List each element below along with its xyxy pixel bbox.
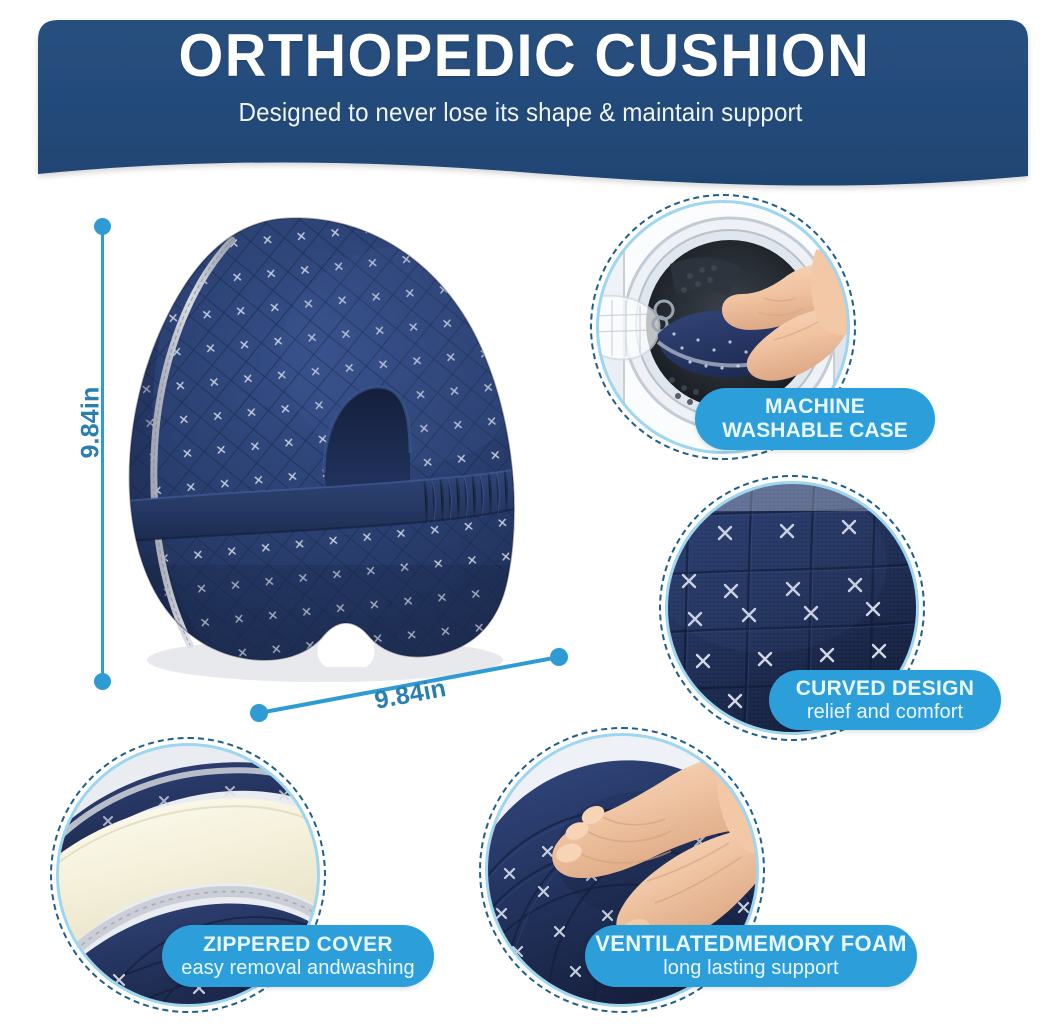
product-infographic: ORTHOPEDIC CUSHION Designed to never los…: [0, 0, 1041, 1024]
badge-subtitle: long lasting support: [663, 957, 838, 979]
dimension-endpoint-dot: [250, 704, 268, 722]
dimension-height-label: 9.84in: [77, 368, 106, 478]
badge-zippered-cover[interactable]: ZIPPERED COVER easy removal andwashing: [162, 925, 434, 987]
badge-title: MACHINE: [765, 395, 865, 419]
badge-ventilated-foam[interactable]: VENTILATEDMEMORY FOAM long lasting suppo…: [585, 925, 917, 987]
badge-subtitle: relief and comfort: [807, 701, 963, 723]
badge-subtitle: easy removal andwashing: [181, 957, 415, 979]
product-hero-image: [110, 205, 610, 705]
header-banner: ORTHOPEDIC CUSHION Designed to never los…: [0, 0, 1041, 200]
dimension-endpoint-dot: [550, 648, 568, 666]
dimension-height: 9.84in: [82, 218, 122, 688]
badge-title: ZIPPERED COVER: [203, 933, 393, 957]
dimension-endpoint-dot: [94, 673, 111, 690]
badge-machine-washable[interactable]: MACHINE WASHABLE CASE: [695, 388, 935, 450]
badge-title: VENTILATEDMEMORY FOAM: [595, 932, 906, 957]
dimension-width: 9.84in: [245, 645, 575, 725]
badge-title: CURVED DESIGN: [796, 677, 975, 701]
badge-subtitle: WASHABLE CASE: [722, 419, 908, 443]
badge-curved-design[interactable]: CURVED DESIGN relief and comfort: [769, 670, 1001, 730]
